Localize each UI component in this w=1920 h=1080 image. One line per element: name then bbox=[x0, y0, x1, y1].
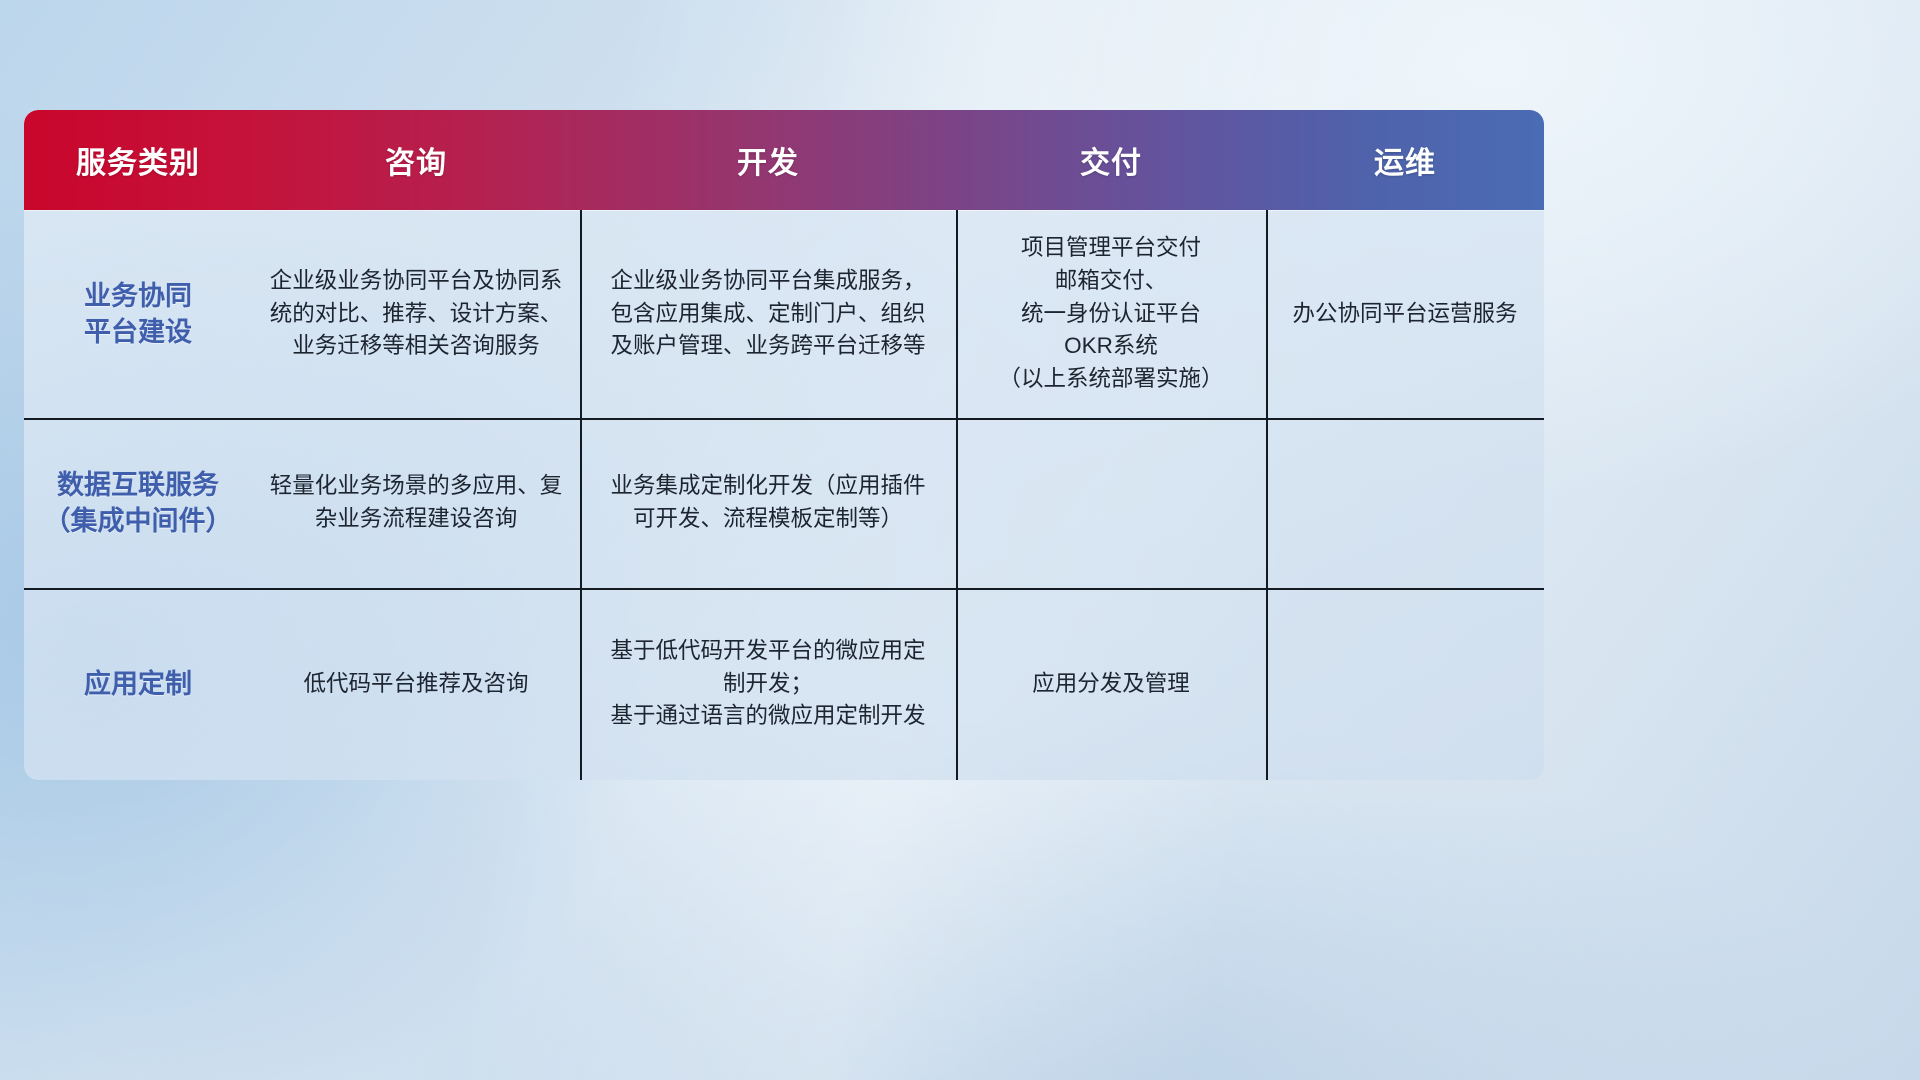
table-row: 数据互联服务 （集成中间件） 轻量化业务场景的多应用、复 杂业务流程建设咨询 业… bbox=[24, 418, 1544, 588]
cell-development: 企业级业务协同平台集成服务， 包含应用集成、定制门户、组织 及账户管理、业务跨平… bbox=[580, 210, 956, 418]
column-header-category: 服务类别 bbox=[24, 138, 252, 182]
service-category-table: 服务类别 咨询 开发 交付 运维 业务协同 平台建设 企业级业务协同平台及协同系… bbox=[24, 110, 1544, 780]
cell-delivery bbox=[956, 418, 1266, 588]
cell-operations bbox=[1266, 418, 1544, 588]
row-label-cell: 应用定制 bbox=[24, 588, 252, 780]
table-body: 业务协同 平台建设 企业级业务协同平台及协同系 统的对比、推荐、设计方案、 业务… bbox=[24, 210, 1544, 780]
row-label-cell: 业务协同 平台建设 bbox=[24, 210, 252, 418]
cell-consulting: 低代码平台推荐及咨询 bbox=[252, 588, 580, 780]
cell-text: 项目管理平台交付 邮箱交付、 统一身份认证平台 OKR系统 （以上系统部署实施） bbox=[998, 232, 1223, 395]
cell-text: 企业级业务协同平台及协同系 统的对比、推荐、设计方案、 业务迁移等相关咨询服务 bbox=[270, 265, 563, 363]
table-row: 业务协同 平台建设 企业级业务协同平台及协同系 统的对比、推荐、设计方案、 业务… bbox=[24, 210, 1544, 418]
cell-text: 企业级业务协同平台集成服务， 包含应用集成、定制门户、组织 及账户管理、业务跨平… bbox=[610, 265, 925, 363]
column-header-consulting: 咨询 bbox=[252, 138, 580, 182]
cell-consulting: 企业级业务协同平台及协同系 统的对比、推荐、设计方案、 业务迁移等相关咨询服务 bbox=[252, 210, 580, 418]
table-row: 应用定制 低代码平台推荐及咨询 基于低代码开发平台的微应用定 制开发； 基于通过… bbox=[24, 588, 1544, 780]
cell-text: 低代码平台推荐及咨询 bbox=[303, 668, 528, 701]
cell-operations: 办公协同平台运营服务 bbox=[1266, 210, 1544, 418]
column-header-delivery: 交付 bbox=[956, 138, 1266, 182]
cell-text: 轻量化业务场景的多应用、复 杂业务流程建设咨询 bbox=[270, 470, 563, 535]
cell-text: 基于低代码开发平台的微应用定 制开发； 基于通过语言的微应用定制开发 bbox=[610, 635, 925, 733]
cell-development: 业务集成定制化开发（应用插件 可开发、流程模板定制等） bbox=[580, 418, 956, 588]
column-header-development: 开发 bbox=[580, 138, 956, 182]
cell-operations bbox=[1266, 588, 1544, 780]
cell-delivery: 应用分发及管理 bbox=[956, 588, 1266, 780]
cell-delivery: 项目管理平台交付 邮箱交付、 统一身份认证平台 OKR系统 （以上系统部署实施） bbox=[956, 210, 1266, 418]
cell-text: 办公协同平台运营服务 bbox=[1292, 298, 1517, 331]
row-label-text: 应用定制 bbox=[84, 666, 192, 702]
slide-canvas: 服务类别 咨询 开发 交付 运维 业务协同 平台建设 企业级业务协同平台及协同系… bbox=[0, 0, 1920, 1080]
row-label-text: 数据互联服务 （集成中间件） bbox=[44, 467, 233, 540]
row-label-cell: 数据互联服务 （集成中间件） bbox=[24, 418, 252, 588]
row-label-text: 业务协同 平台建设 bbox=[84, 278, 192, 351]
cell-text: 应用分发及管理 bbox=[1032, 668, 1190, 701]
column-header-operations: 运维 bbox=[1266, 138, 1544, 182]
cell-development: 基于低代码开发平台的微应用定 制开发； 基于通过语言的微应用定制开发 bbox=[580, 588, 956, 780]
cell-text: 业务集成定制化开发（应用插件 可开发、流程模板定制等） bbox=[610, 470, 925, 535]
cell-consulting: 轻量化业务场景的多应用、复 杂业务流程建设咨询 bbox=[252, 418, 580, 588]
table-header-row: 服务类别 咨询 开发 交付 运维 bbox=[24, 110, 1544, 210]
